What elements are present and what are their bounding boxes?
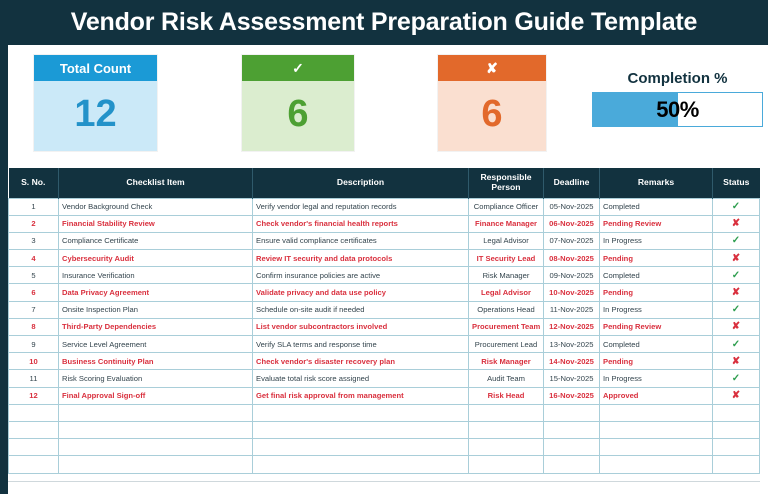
column-header-remarks[interactable]: Remarks [600, 168, 713, 198]
status-cross-icon: ✘ [732, 321, 740, 332]
cell-remarks[interactable]: Pending Review [600, 318, 713, 335]
table-row[interactable] [9, 421, 760, 438]
cell-deadline[interactable]: 08-Nov-2025 [544, 250, 600, 267]
cell-person[interactable]: Risk Head [469, 387, 544, 404]
cell-deadline[interactable]: 11-Nov-2025 [544, 301, 600, 318]
table-row[interactable]: 7Onsite Inspection PlanSchedule on-site … [9, 301, 760, 318]
cell-item[interactable]: Onsite Inspection Plan [59, 301, 253, 318]
cell-deadline[interactable]: 07-Nov-2025 [544, 232, 600, 249]
cell-person[interactable] [469, 439, 544, 456]
completion-progress-value: 50% [593, 93, 762, 126]
cell-remarks[interactable]: Pending [600, 284, 713, 301]
cell-item[interactable]: Data Privacy Agreement [59, 284, 253, 301]
table-row[interactable]: 9Service Level AgreementVerify SLA terms… [9, 336, 760, 353]
table-body: 1Vendor Background CheckVerify vendor le… [9, 198, 760, 473]
cell-item[interactable] [59, 421, 253, 438]
column-header-status[interactable]: Status [713, 168, 760, 198]
table-row[interactable]: 1Vendor Background CheckVerify vendor le… [9, 198, 760, 215]
cell-sno[interactable] [9, 456, 59, 473]
cell-deadline[interactable]: 05-Nov-2025 [544, 198, 600, 215]
cell-remarks[interactable]: Completed [600, 267, 713, 284]
status-cross-icon: ✘ [732, 218, 740, 229]
kpi-total-count-label: Total Count [34, 55, 157, 81]
cell-status[interactable]: ✓ [713, 301, 760, 318]
cell-desc[interactable]: Verify vendor legal and reputation recor… [253, 198, 469, 215]
cell-item[interactable]: Final Approval Sign-off [59, 387, 253, 404]
cell-person[interactable]: Legal Advisor [469, 232, 544, 249]
cell-person[interactable]: Procurement Team [469, 318, 544, 335]
status-check-icon: ✓ [732, 201, 740, 212]
status-check-icon: ✓ [732, 373, 740, 384]
cell-deadline[interactable]: 12-Nov-2025 [544, 318, 600, 335]
column-header-deadline[interactable]: Deadline [544, 168, 600, 198]
kpi-pending-value: 6 [438, 81, 546, 151]
cell-desc[interactable]: List vendor subcontractors involved [253, 318, 469, 335]
table-row[interactable]: 12Final Approval Sign-offGet final risk … [9, 387, 760, 404]
cell-item[interactable]: Cybersecurity Audit [59, 250, 253, 267]
cell-status[interactable]: ✘ [713, 353, 760, 370]
cell-person[interactable]: Audit Team [469, 370, 544, 387]
column-header-desc[interactable]: Description [253, 168, 469, 198]
cell-remarks[interactable]: Completed [600, 336, 713, 353]
cell-remarks[interactable] [600, 421, 713, 438]
cell-remarks[interactable] [600, 404, 713, 421]
cell-deadline[interactable]: 14-Nov-2025 [544, 353, 600, 370]
cell-item[interactable]: Compliance Certificate [59, 232, 253, 249]
checklist-table-container: S. No.Checklist ItemDescriptionResponsib… [0, 168, 768, 494]
cell-item[interactable]: Service Level Agreement [59, 336, 253, 353]
cell-deadline[interactable]: 13-Nov-2025 [544, 336, 600, 353]
cell-item[interactable]: Financial Stability Review [59, 215, 253, 232]
status-check-icon: ✓ [732, 270, 740, 281]
cell-sno[interactable] [9, 421, 59, 438]
table-bottom-edge [8, 481, 760, 494]
cell-remarks[interactable]: Pending [600, 353, 713, 370]
cell-sno[interactable]: 10 [9, 353, 59, 370]
cell-person[interactable]: Procurement Lead [469, 336, 544, 353]
status-check-icon: ✓ [732, 339, 740, 350]
cell-sno[interactable]: 1 [9, 198, 59, 215]
cell-sno[interactable]: 5 [9, 267, 59, 284]
status-cross-icon: ✘ [732, 356, 740, 367]
cell-desc[interactable] [253, 404, 469, 421]
cell-desc[interactable]: Check vendor's financial health reports [253, 215, 469, 232]
table-row[interactable]: 10Business Continuity PlanCheck vendor's… [9, 353, 760, 370]
cell-remarks[interactable] [600, 456, 713, 473]
cell-deadline[interactable]: 15-Nov-2025 [544, 370, 600, 387]
cell-person[interactable] [469, 421, 544, 438]
cell-item[interactable] [59, 456, 253, 473]
cell-remarks[interactable]: Pending Review [600, 215, 713, 232]
cell-person[interactable] [469, 404, 544, 421]
cell-remarks[interactable] [600, 439, 713, 456]
kpi-card-completed: ✓ 6 [241, 54, 355, 152]
cell-status[interactable]: ✓ [713, 267, 760, 284]
kpi-summary-band: Total Count 12 ✓ 6 ✘ 6 Completion % 50% [0, 45, 768, 168]
cell-person[interactable]: IT Security Lead [469, 250, 544, 267]
cell-status[interactable]: ✘ [713, 284, 760, 301]
cell-person[interactable]: Legal Advisor [469, 284, 544, 301]
status-check-icon: ✓ [732, 304, 740, 315]
cell-status[interactable]: ✘ [713, 215, 760, 232]
cell-person[interactable]: Risk Manager [469, 267, 544, 284]
cell-sno[interactable]: 9 [9, 336, 59, 353]
cell-item[interactable] [59, 439, 253, 456]
cell-deadline[interactable] [544, 404, 600, 421]
cell-remarks[interactable]: Approved [600, 387, 713, 404]
cell-desc[interactable]: Verify SLA terms and response time [253, 336, 469, 353]
cell-sno[interactable]: 2 [9, 215, 59, 232]
check-icon: ✓ [242, 55, 354, 81]
table-row[interactable]: 2Financial Stability ReviewCheck vendor'… [9, 215, 760, 232]
cell-desc[interactable]: Ensure valid compliance certificates [253, 232, 469, 249]
table-row[interactable]: 5Insurance VerificationConfirm insurance… [9, 267, 760, 284]
cell-deadline[interactable] [544, 421, 600, 438]
cell-item[interactable]: Business Continuity Plan [59, 353, 253, 370]
kpi-total-count-value: 12 [34, 81, 157, 151]
completion-percent-block: Completion % 50% [592, 70, 763, 127]
table-row[interactable]: 8Third-Party DependenciesList vendor sub… [9, 318, 760, 335]
page-title-bar: Vendor Risk Assessment Preparation Guide… [0, 0, 768, 45]
cell-item[interactable] [59, 404, 253, 421]
completion-percent-label: Completion % [592, 70, 763, 87]
cell-deadline[interactable]: 16-Nov-2025 [544, 387, 600, 404]
completion-progress-bar: 50% [592, 92, 763, 127]
cross-icon: ✘ [438, 55, 546, 81]
cell-sno[interactable]: 3 [9, 232, 59, 249]
kpi-card-total-count: Total Count 12 [33, 54, 158, 152]
cell-sno[interactable] [9, 439, 59, 456]
cell-status[interactable]: ✘ [713, 318, 760, 335]
status-cross-icon: ✘ [732, 287, 740, 298]
table-row[interactable] [9, 456, 760, 473]
cell-item[interactable]: Risk Scoring Evaluation [59, 370, 253, 387]
cell-status[interactable]: ✓ [713, 232, 760, 249]
page-title: Vendor Risk Assessment Preparation Guide… [71, 8, 698, 37]
table-row[interactable]: 6Data Privacy AgreementValidate privacy … [9, 284, 760, 301]
cell-status[interactable]: ✓ [713, 370, 760, 387]
cell-deadline[interactable]: 09-Nov-2025 [544, 267, 600, 284]
cell-sno[interactable] [9, 404, 59, 421]
cell-desc[interactable]: Get final risk approval from management [253, 387, 469, 404]
table-header-row: S. No.Checklist ItemDescriptionResponsib… [9, 168, 760, 198]
cell-person[interactable] [469, 456, 544, 473]
cell-deadline[interactable] [544, 456, 600, 473]
cell-item[interactable]: Insurance Verification [59, 267, 253, 284]
column-header-person[interactable]: Responsible Person [469, 168, 544, 198]
cell-desc[interactable] [253, 421, 469, 438]
cell-deadline[interactable]: 10-Nov-2025 [544, 284, 600, 301]
cell-remarks[interactable]: Completed [600, 198, 713, 215]
cell-person[interactable]: Finance Manager [469, 215, 544, 232]
cell-remarks[interactable]: Pending [600, 250, 713, 267]
column-header-item[interactable]: Checklist Item [59, 168, 253, 198]
cell-sno[interactable]: 11 [9, 370, 59, 387]
cell-person[interactable]: Operations Head [469, 301, 544, 318]
cell-desc[interactable]: Check vendor's disaster recovery plan [253, 353, 469, 370]
cell-item[interactable]: Third-Party Dependencies [59, 318, 253, 335]
table-row[interactable] [9, 404, 760, 421]
table-row[interactable]: 11Risk Scoring EvaluationEvaluate total … [9, 370, 760, 387]
cell-sno[interactable]: 12 [9, 387, 59, 404]
cell-status[interactable]: ✘ [713, 387, 760, 404]
vendor-risk-assessment-page: Vendor Risk Assessment Preparation Guide… [0, 0, 768, 494]
column-header-sno[interactable]: S. No. [9, 168, 59, 198]
cell-remarks[interactable]: In Progress [600, 232, 713, 249]
table-row[interactable]: 4Cybersecurity AuditReview IT security a… [9, 250, 760, 267]
table-row[interactable] [9, 439, 760, 456]
cell-remarks[interactable]: In Progress [600, 370, 713, 387]
status-cross-icon: ✘ [732, 253, 740, 264]
cell-person[interactable]: Compliance Officer [469, 198, 544, 215]
cell-status[interactable]: ✘ [713, 250, 760, 267]
kpi-card-pending: ✘ 6 [437, 54, 547, 152]
cell-sno[interactable]: 8 [9, 318, 59, 335]
cell-remarks[interactable]: In Progress [600, 301, 713, 318]
cell-desc[interactable] [253, 439, 469, 456]
table-row[interactable]: 3Compliance CertificateEnsure valid comp… [9, 232, 760, 249]
cell-sno[interactable]: 7 [9, 301, 59, 318]
cell-status[interactable] [713, 456, 760, 473]
cell-item[interactable]: Vendor Background Check [59, 198, 253, 215]
cell-desc[interactable]: Review IT security and data protocols [253, 250, 469, 267]
cell-status[interactable] [713, 404, 760, 421]
status-cross-icon: ✘ [732, 390, 740, 401]
cell-status[interactable] [713, 421, 760, 438]
cell-desc[interactable]: Validate privacy and data use policy [253, 284, 469, 301]
cell-deadline[interactable] [544, 439, 600, 456]
cell-desc[interactable]: Schedule on-site audit if needed [253, 301, 469, 318]
cell-person[interactable]: Risk Manager [469, 353, 544, 370]
cell-deadline[interactable]: 06-Nov-2025 [544, 215, 600, 232]
kpi-completed-value: 6 [242, 81, 354, 151]
status-check-icon: ✓ [732, 235, 740, 246]
cell-desc[interactable]: Evaluate total risk score assigned [253, 370, 469, 387]
cell-status[interactable] [713, 439, 760, 456]
checklist-table: S. No.Checklist ItemDescriptionResponsib… [8, 168, 760, 474]
cell-sno[interactable]: 4 [9, 250, 59, 267]
cell-desc[interactable]: Confirm insurance policies are active [253, 267, 469, 284]
cell-desc[interactable] [253, 456, 469, 473]
cell-status[interactable]: ✓ [713, 336, 760, 353]
cell-status[interactable]: ✓ [713, 198, 760, 215]
cell-sno[interactable]: 6 [9, 284, 59, 301]
